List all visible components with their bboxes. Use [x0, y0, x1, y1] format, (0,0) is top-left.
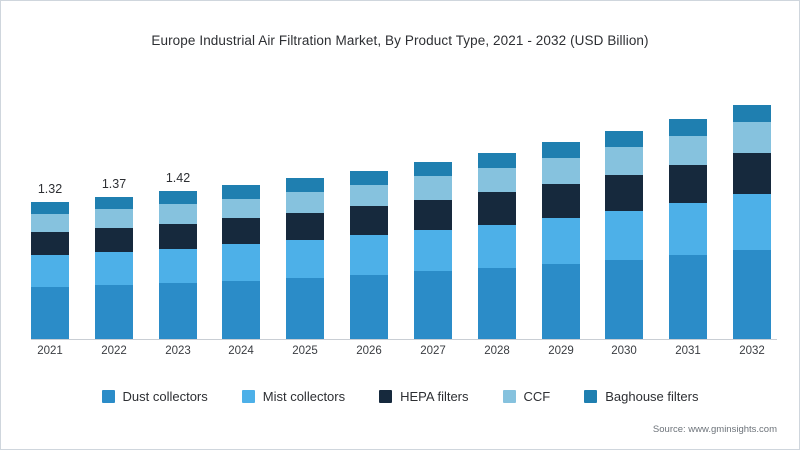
- legend-item[interactable]: Dust collectors: [102, 389, 208, 404]
- bar-segment[interactable]: [605, 131, 643, 147]
- legend-item[interactable]: CCF: [503, 389, 551, 404]
- legend-swatch-icon: [584, 390, 597, 403]
- bar-segment[interactable]: [286, 240, 324, 277]
- bar-segment[interactable]: [414, 200, 452, 230]
- page-title: Europe Industrial Air Filtration Market,…: [1, 33, 799, 48]
- bar-value-label: 1.37: [102, 177, 126, 191]
- bar-segment[interactable]: [350, 275, 388, 339]
- bar-segment[interactable]: [95, 209, 133, 228]
- x-axis-tick-2023: 2023: [148, 345, 208, 357]
- bar-value-label: 1.32: [38, 182, 62, 196]
- bar-column[interactable]: [542, 142, 580, 339]
- bar-column[interactable]: [286, 178, 324, 339]
- chart-page: Europe Industrial Air Filtration Market,…: [0, 0, 800, 450]
- bar-column[interactable]: [350, 171, 388, 339]
- bar-segment[interactable]: [159, 191, 197, 203]
- bar-segment[interactable]: [478, 268, 516, 339]
- legend: Dust collectorsMist collectorsHEPA filte…: [1, 389, 799, 404]
- bar-segment[interactable]: [286, 192, 324, 214]
- bar-segment[interactable]: [31, 202, 69, 214]
- bar-segment[interactable]: [286, 178, 324, 192]
- bar-segment[interactable]: [222, 199, 260, 219]
- bar-segment[interactable]: [733, 122, 771, 153]
- x-axis-tick-2029: 2029: [531, 345, 591, 357]
- bar-column[interactable]: [478, 153, 516, 339]
- legend-item[interactable]: Mist collectors: [242, 389, 345, 404]
- bar-segment[interactable]: [669, 203, 707, 255]
- bar-segment[interactable]: [669, 136, 707, 165]
- x-axis-tick-2024: 2024: [211, 345, 271, 357]
- legend-label: HEPA filters: [400, 389, 468, 404]
- bar-segment[interactable]: [159, 283, 197, 339]
- x-axis-tick-2021: 2021: [20, 345, 80, 357]
- bar-segment[interactable]: [605, 147, 643, 175]
- bar-column[interactable]: [222, 185, 260, 339]
- bar-column[interactable]: [733, 105, 771, 339]
- x-axis-tick-2028: 2028: [467, 345, 527, 357]
- bar-segment[interactable]: [222, 218, 260, 244]
- legend-swatch-icon: [503, 390, 516, 403]
- bar-segment[interactable]: [414, 176, 452, 200]
- bar-segment[interactable]: [350, 206, 388, 235]
- bar-segment[interactable]: [733, 153, 771, 195]
- bar-segment[interactable]: [478, 168, 516, 193]
- legend-label: Dust collectors: [123, 389, 208, 404]
- bar-column[interactable]: [605, 131, 643, 339]
- legend-swatch-icon: [242, 390, 255, 403]
- bar-column[interactable]: [414, 162, 452, 339]
- legend-label: Baghouse filters: [605, 389, 698, 404]
- x-axis-tick-2031: 2031: [658, 345, 718, 357]
- bar-segment[interactable]: [542, 142, 580, 158]
- bar-segment[interactable]: [542, 184, 580, 218]
- bar-segment[interactable]: [159, 204, 197, 224]
- legend-swatch-icon: [379, 390, 392, 403]
- bar-segment[interactable]: [669, 119, 707, 136]
- legend-swatch-icon: [102, 390, 115, 403]
- bar-segment[interactable]: [31, 255, 69, 287]
- bar-segment[interactable]: [542, 264, 580, 339]
- legend-label: Mist collectors: [263, 389, 345, 404]
- bar-segment[interactable]: [414, 230, 452, 272]
- bar-column[interactable]: [159, 191, 197, 339]
- bar-segment[interactable]: [95, 228, 133, 252]
- x-axis-tick-2030: 2030: [594, 345, 654, 357]
- bar-segment[interactable]: [95, 197, 133, 209]
- bar-segment[interactable]: [542, 218, 580, 264]
- bar-segment[interactable]: [31, 232, 69, 255]
- bar-segment[interactable]: [542, 158, 580, 184]
- bar-segment[interactable]: [478, 153, 516, 168]
- legend-label: CCF: [524, 389, 551, 404]
- x-axis-line: [31, 339, 777, 340]
- bar-segment[interactable]: [222, 281, 260, 339]
- bar-segment[interactable]: [350, 185, 388, 207]
- bar-segment[interactable]: [95, 252, 133, 285]
- bar-segment[interactable]: [605, 175, 643, 211]
- bar-segment[interactable]: [733, 105, 771, 122]
- legend-item[interactable]: Baghouse filters: [584, 389, 698, 404]
- source-note: Source: www.gminsights.com: [653, 424, 777, 435]
- plot-area: 1.321.371.42: [31, 81, 771, 339]
- bar-segment[interactable]: [159, 224, 197, 249]
- bar-segment[interactable]: [478, 225, 516, 269]
- bar-column[interactable]: [669, 119, 707, 339]
- bar-segment[interactable]: [159, 249, 197, 283]
- x-axis-tick-2027: 2027: [403, 345, 463, 357]
- bar-segment[interactable]: [286, 213, 324, 240]
- x-axis-tick-2022: 2022: [84, 345, 144, 357]
- bar-segment[interactable]: [31, 214, 69, 232]
- bar-segment[interactable]: [733, 194, 771, 249]
- bar-segment[interactable]: [350, 235, 388, 274]
- bar-segment[interactable]: [669, 255, 707, 339]
- bar-segment[interactable]: [478, 192, 516, 224]
- bar-segment[interactable]: [95, 285, 133, 339]
- bar-segment[interactable]: [669, 165, 707, 203]
- x-axis-tick-2026: 2026: [339, 345, 399, 357]
- bar-segment[interactable]: [350, 171, 388, 184]
- bar-column[interactable]: [31, 202, 69, 339]
- bar-value-label: 1.42: [166, 171, 190, 185]
- bar-segment[interactable]: [733, 250, 771, 339]
- bar-segment[interactable]: [222, 185, 260, 199]
- bar-segment[interactable]: [414, 162, 452, 176]
- bar-segment[interactable]: [222, 244, 260, 280]
- bar-segment[interactable]: [31, 287, 69, 339]
- bar-column[interactable]: [95, 197, 133, 339]
- bar-segment[interactable]: [286, 278, 324, 339]
- bar-segment[interactable]: [605, 211, 643, 260]
- legend-item[interactable]: HEPA filters: [379, 389, 468, 404]
- bar-segment[interactable]: [605, 260, 643, 339]
- bar-segment[interactable]: [414, 271, 452, 339]
- x-axis-tick-2032: 2032: [722, 345, 782, 357]
- x-axis-tick-2025: 2025: [275, 345, 335, 357]
